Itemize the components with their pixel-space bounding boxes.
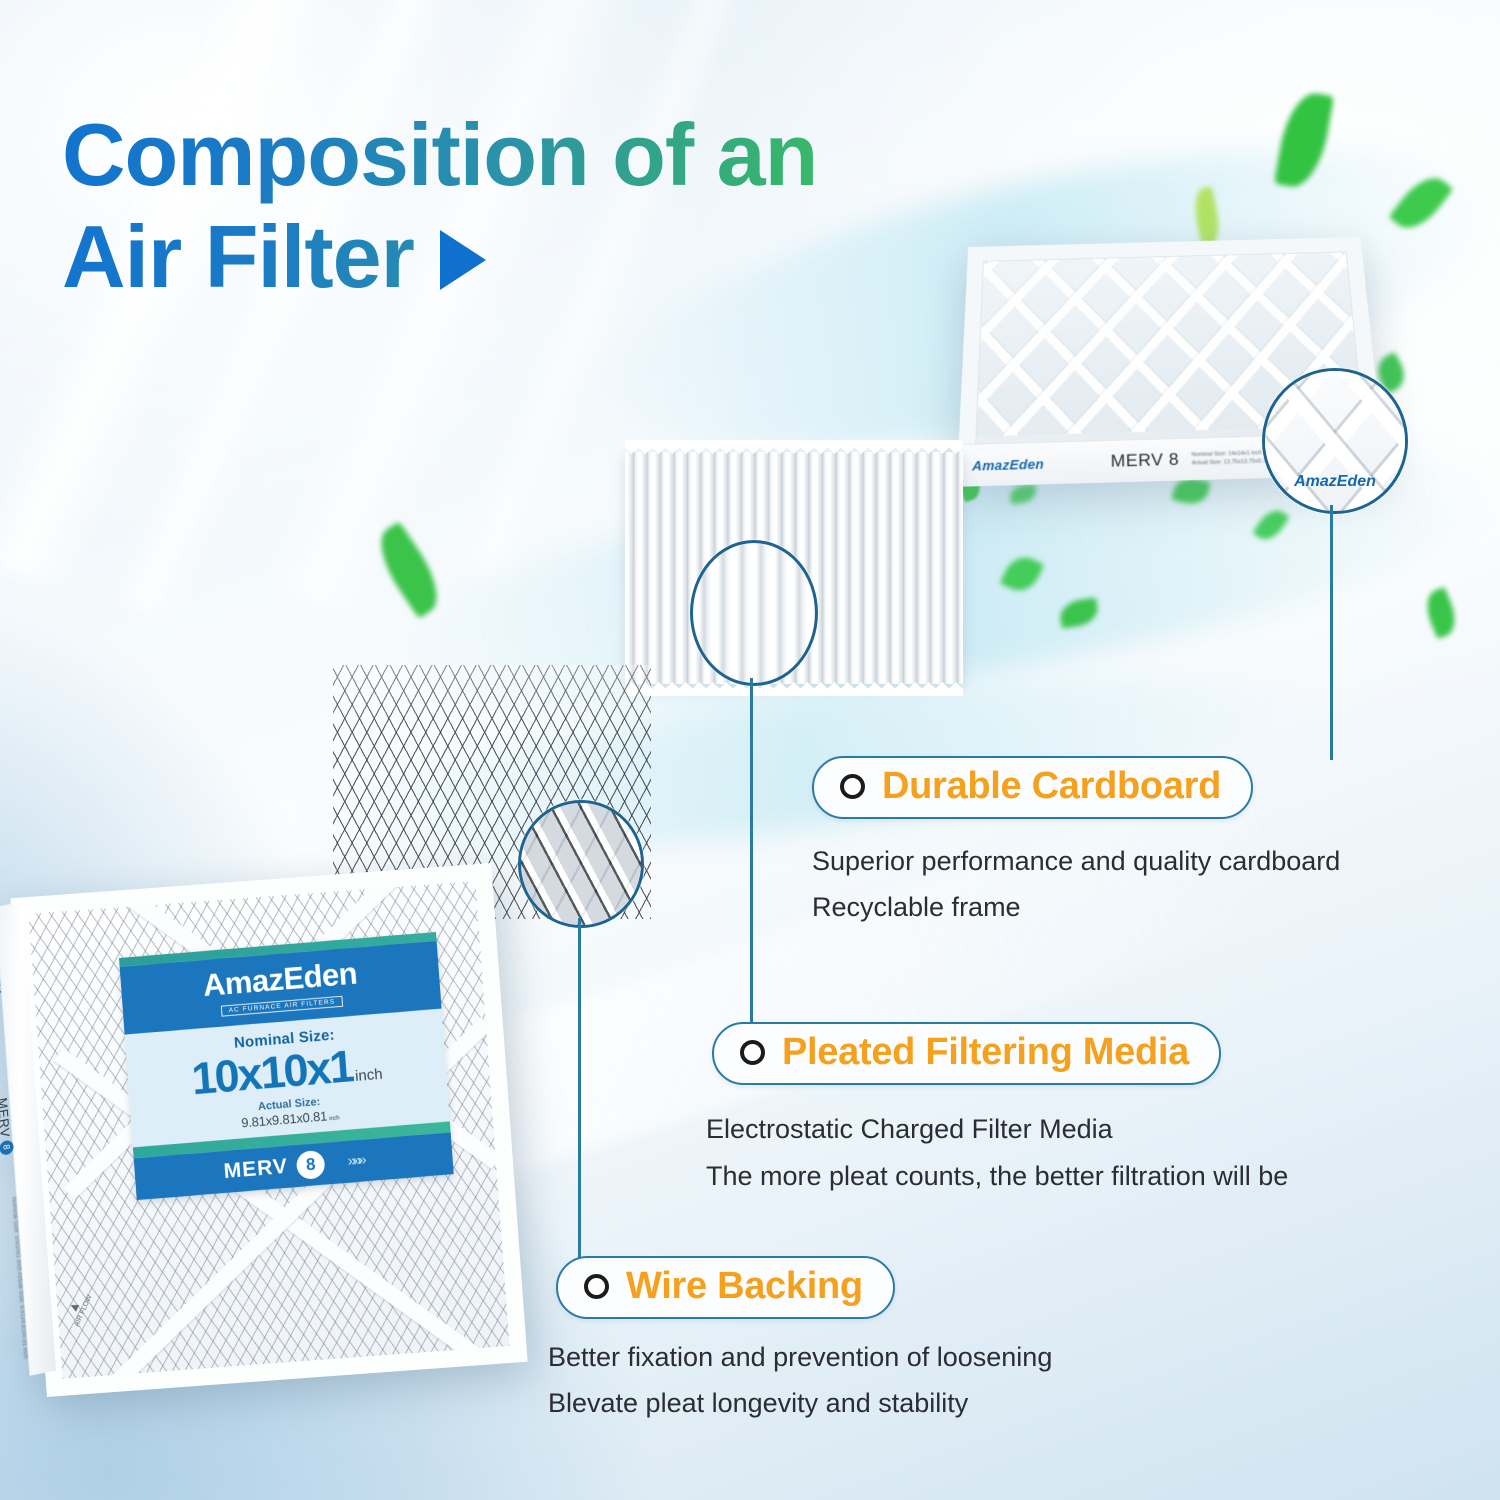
feature-label: Durable Cardboard [882,765,1221,808]
connector-pleats [750,678,753,1030]
airflow-chevrons-icon: »»» [347,1152,364,1170]
infographic-canvas: Composition of an Air Filter AmazEden ME… [0,0,1500,1500]
feature-desc-line: Blevate pleat longevity and stability [548,1382,968,1426]
feature-pill-pleated-filtering-media[interactable]: Pleated Filtering Media [712,1022,1221,1085]
feature-label: Wire Backing [626,1265,863,1308]
product-merv-value: 8 [296,1150,326,1180]
pleat-teeth-top [625,440,963,454]
top-filter-merv: MERV 8 [1111,449,1180,472]
magnifier-cardboard-caption: AmazEden [1265,473,1405,491]
magnifier-mesh [518,800,644,928]
feature-pill-durable-cardboard[interactable]: Durable Cardboard [812,756,1253,819]
page-title: Composition of an Air Filter [62,104,1122,308]
top-filter-brand: AmazEden [972,456,1044,474]
product-label: AmazEden AC FURNACE AIR FILTERS Nominal … [119,932,454,1200]
product-brand-subtitle: AC FURNACE AIR FILTERS [220,996,343,1017]
connector-mesh [578,918,581,1270]
ring-bullet-icon [840,774,865,799]
feature-desc-line: Recyclable frame [812,886,1021,930]
feature-desc-line: Better fixation and prevention of loosen… [548,1336,1052,1380]
magnifier-cardboard: AmazEden [1262,368,1408,514]
ring-bullet-icon [740,1040,765,1065]
feature-label: Pleated Filtering Media [782,1031,1189,1074]
pleat-teeth-bottom [625,682,963,696]
feature-desc-line: Electrostatic Charged Filter Media [706,1108,1113,1152]
ring-bullet-icon [584,1274,609,1299]
triangle-right-icon [440,230,486,290]
connector-cardboard [1330,505,1333,760]
title-line-2: Air Filter [62,206,414,308]
title-line-1: Composition of an [62,104,1122,206]
magnifier-pleats [690,540,818,686]
feature-desc-line: Superior performance and quality cardboa… [812,840,1340,884]
feature-pill-wire-backing[interactable]: Wire Backing [556,1256,895,1319]
product-merv-label: MERV [223,1155,289,1184]
feature-desc-line: The more pleat counts, the better filtra… [706,1155,1288,1199]
product-box: AmazEden MERV8 Nominal Size: 10x10x1 inc… [10,863,527,1397]
